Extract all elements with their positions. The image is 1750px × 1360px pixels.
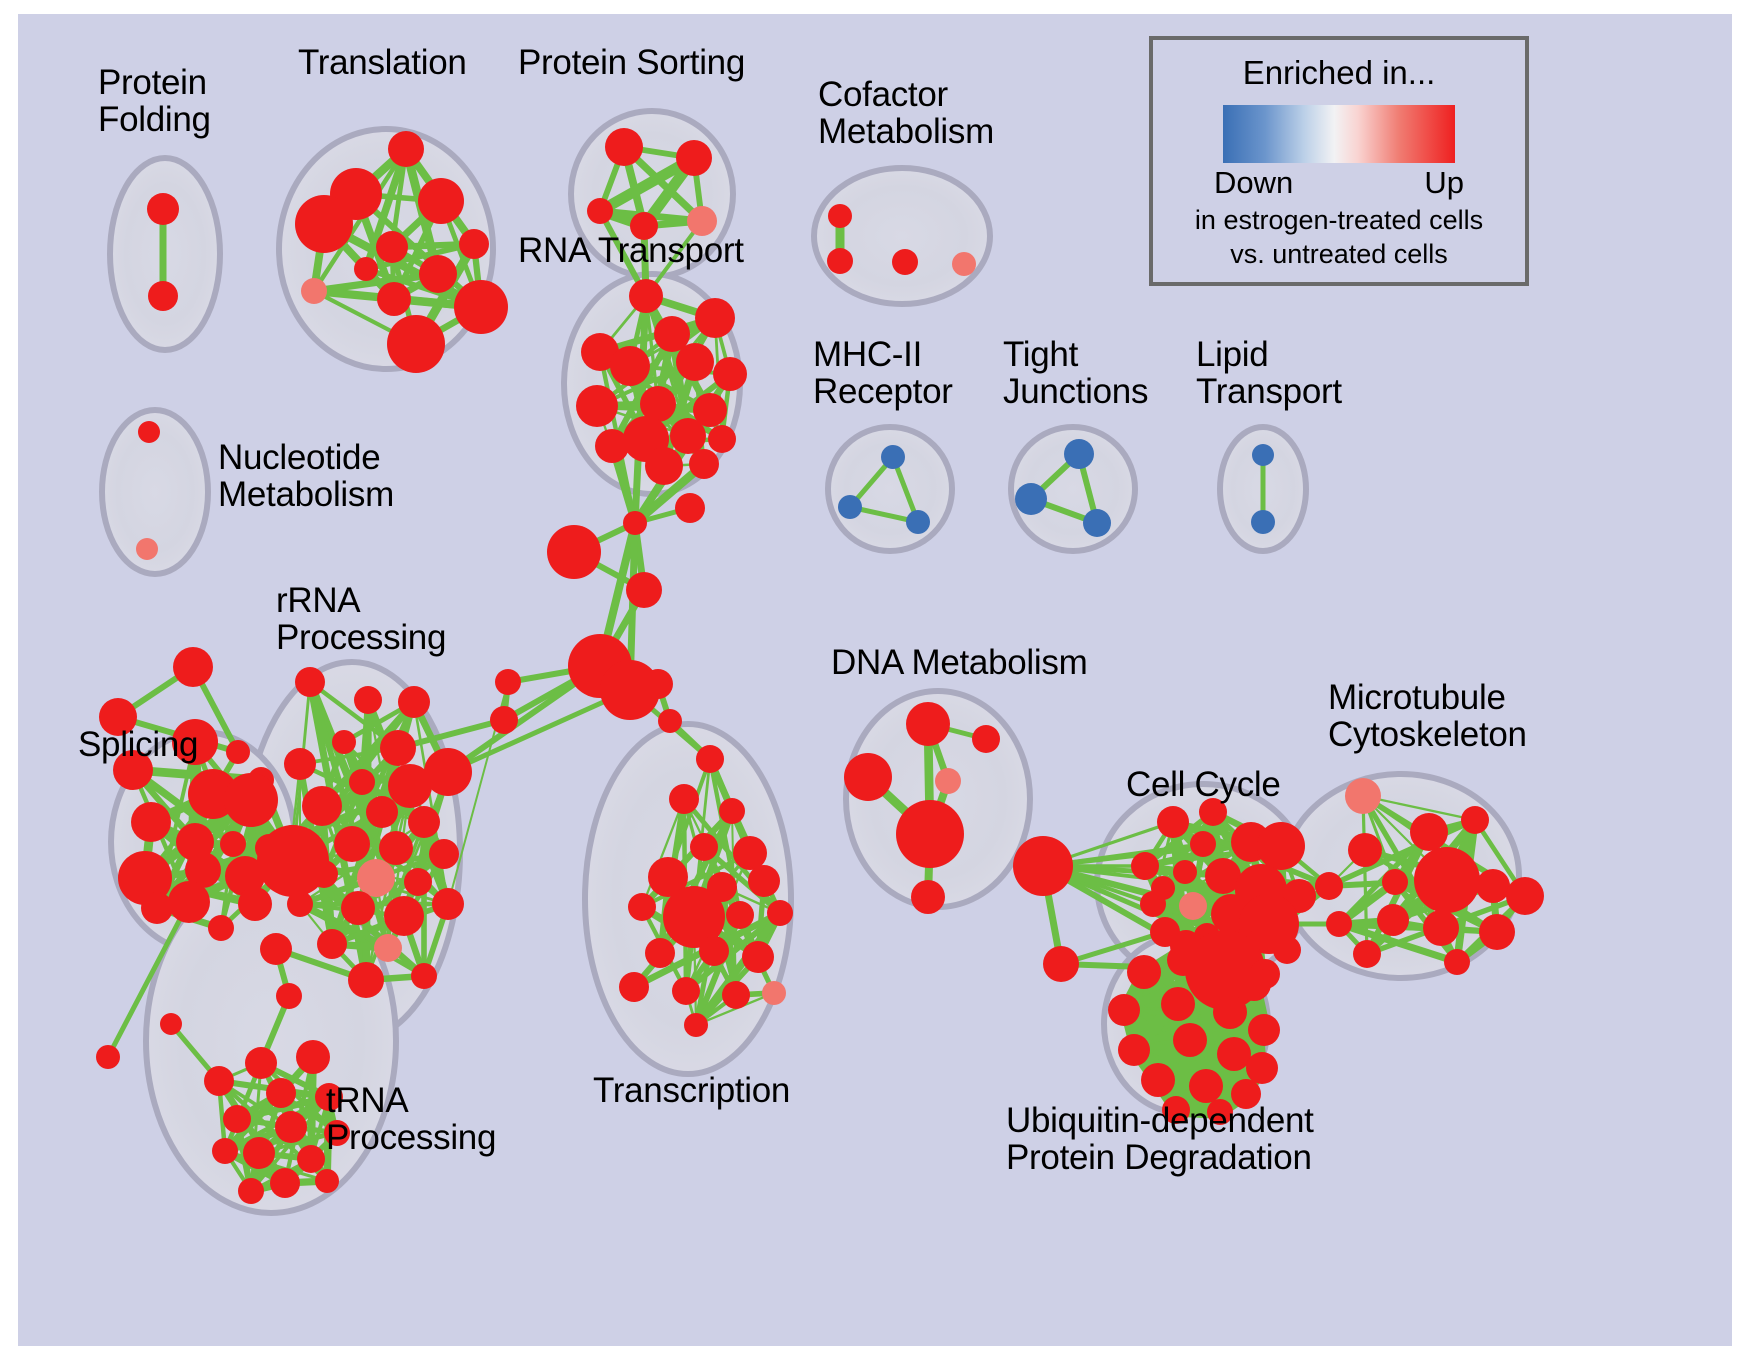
network-node[interactable] [595, 429, 629, 463]
network-node[interactable] [935, 768, 961, 794]
network-node[interactable] [257, 825, 329, 897]
network-node[interactable] [1064, 439, 1094, 469]
network-node[interactable] [136, 538, 158, 560]
network-node[interactable] [1118, 1034, 1150, 1066]
network-node[interactable] [827, 248, 853, 274]
cluster-label-ubiquitin-degradation: Ubiquitin-dependent Protein Degradation [1006, 1102, 1314, 1177]
cluster-label-microtubule-cytoskeleton: Microtubule Cytoskeleton [1328, 679, 1527, 754]
network-node[interactable] [377, 282, 411, 316]
network-node[interactable] [1151, 876, 1175, 900]
network-node[interactable] [404, 868, 432, 896]
network-node[interactable] [645, 938, 675, 968]
network-node[interactable] [379, 831, 413, 865]
network-node[interactable] [354, 257, 378, 281]
network-node[interactable] [220, 831, 246, 857]
network-node[interactable] [1414, 847, 1480, 913]
network-node[interactable] [1326, 911, 1352, 937]
network-node[interactable] [675, 493, 705, 523]
network-node[interactable] [1252, 444, 1274, 466]
network-node[interactable] [722, 981, 750, 1009]
network-node[interactable] [204, 1066, 234, 1096]
network-node[interactable] [605, 128, 643, 166]
network-node[interactable] [643, 669, 673, 699]
network-node[interactable] [349, 769, 375, 795]
network-node[interactable] [354, 686, 382, 714]
network-canvas: Protein FoldingTranslationProtein Sortin… [18, 14, 1732, 1346]
network-node[interactable] [676, 140, 712, 176]
network-node[interactable] [695, 298, 735, 338]
network-node[interactable] [911, 880, 945, 914]
network-node[interactable] [1476, 869, 1510, 903]
network-node[interactable] [297, 1145, 325, 1173]
network-node[interactable] [1141, 1063, 1175, 1097]
network-node[interactable] [726, 901, 754, 929]
cluster-label-rrna-processing: rRNA Processing [276, 582, 446, 657]
cluster-label-lipid-transport: Lipid Transport [1196, 336, 1342, 411]
legend-high-label: Up [1424, 165, 1464, 201]
network-node[interactable] [408, 806, 440, 838]
network-node[interactable] [1410, 813, 1448, 851]
network-node[interactable] [260, 933, 292, 965]
legend-subtitle-line2: vs. untreated cells [1153, 239, 1525, 269]
network-node[interactable] [1348, 833, 1382, 867]
network-node[interactable] [1013, 836, 1073, 896]
network-node[interactable] [454, 280, 508, 334]
network-node[interactable] [1353, 940, 1381, 968]
network-node[interactable] [380, 730, 416, 766]
legend-box: Enriched in... Down Up in estrogen-treat… [1149, 36, 1529, 286]
network-node[interactable] [366, 796, 398, 828]
network-node[interactable] [243, 1137, 275, 1169]
network-node[interactable] [376, 231, 408, 263]
network-node[interactable] [301, 278, 327, 304]
network-node[interactable] [387, 315, 445, 373]
network-node[interactable] [275, 1111, 307, 1143]
network-node[interactable] [767, 900, 793, 926]
legend-title: Enriched in... [1153, 54, 1525, 92]
network-node[interactable] [276, 983, 302, 1009]
network-node[interactable] [742, 941, 774, 973]
legend-color-bar [1223, 105, 1455, 163]
network-node[interactable] [1173, 860, 1197, 884]
network-node[interactable] [317, 929, 347, 959]
network-node[interactable] [733, 836, 767, 870]
network-node[interactable] [284, 748, 316, 780]
network-node[interactable] [952, 252, 976, 276]
network-node[interactable] [270, 1168, 300, 1198]
network-node[interactable] [141, 892, 173, 924]
network-node[interactable] [1189, 1069, 1223, 1103]
network-node[interactable] [1246, 1052, 1278, 1084]
network-node[interactable] [1186, 962, 1214, 990]
network-node[interactable] [245, 1047, 277, 1079]
network-node[interactable] [295, 667, 325, 697]
network-node[interactable] [168, 881, 210, 923]
enrichment-network-figure: Protein FoldingTranslationProtein Sortin… [0, 0, 1750, 1360]
network-node[interactable] [424, 748, 472, 796]
network-node[interactable] [1444, 949, 1470, 975]
cluster-label-tight-junctions: Tight Junctions [1003, 336, 1148, 411]
network-node[interactable] [1345, 778, 1381, 814]
network-node[interactable] [689, 449, 719, 479]
network-node[interactable] [173, 647, 213, 687]
network-node[interactable] [1083, 509, 1111, 537]
cluster-label-trna-processing: tRNA Processing [326, 1082, 496, 1157]
network-node[interactable] [881, 445, 905, 469]
network-node[interactable] [748, 865, 780, 897]
network-node[interactable] [892, 249, 918, 275]
network-node[interactable] [1170, 930, 1202, 962]
network-node[interactable] [669, 784, 699, 814]
cluster-label-protein-sorting: Protein Sorting [518, 44, 745, 81]
network-node[interactable] [1131, 852, 1159, 880]
network-node[interactable] [844, 753, 892, 801]
network-node[interactable] [296, 1040, 330, 1074]
network-node[interactable] [459, 229, 489, 259]
network-node[interactable] [587, 198, 613, 224]
network-node[interactable] [676, 343, 714, 381]
network-node[interactable] [896, 800, 964, 868]
network-node[interactable] [838, 495, 862, 519]
cluster-label-splicing: Splicing [78, 726, 198, 763]
network-node[interactable] [131, 802, 171, 842]
network-node[interactable] [1377, 904, 1409, 936]
network-node[interactable] [1315, 872, 1343, 900]
network-node[interactable] [315, 1169, 339, 1193]
network-node[interactable] [332, 730, 356, 754]
cluster-label-cofactor-metabolism: Cofactor Metabolism [818, 76, 994, 151]
network-node[interactable] [610, 346, 650, 386]
network-node[interactable] [1217, 1037, 1251, 1071]
network-node[interactable] [238, 1178, 264, 1204]
network-node[interactable] [670, 418, 706, 454]
network-node[interactable] [1213, 995, 1247, 1029]
network-node[interactable] [628, 893, 656, 921]
network-node[interactable] [1179, 892, 1207, 920]
network-node[interactable] [1173, 1023, 1207, 1057]
network-node[interactable] [490, 706, 518, 734]
network-node[interactable] [1479, 914, 1515, 950]
network-node[interactable] [388, 131, 424, 167]
network-node[interactable] [684, 1013, 708, 1037]
network-node[interactable] [429, 839, 459, 869]
network-node[interactable] [906, 510, 930, 534]
network-node[interactable] [418, 178, 464, 224]
network-node[interactable] [212, 1138, 238, 1164]
cluster-label-rna-transport: RNA Transport [518, 232, 744, 269]
network-node[interactable] [1257, 822, 1305, 870]
network-node[interactable] [658, 709, 682, 733]
network-node[interactable] [419, 255, 457, 293]
network-node[interactable] [645, 447, 683, 485]
network-node[interactable] [1161, 987, 1195, 1021]
network-node[interactable] [719, 798, 745, 824]
network-node[interactable] [576, 385, 618, 427]
network-node[interactable] [623, 511, 647, 535]
network-node[interactable] [1506, 877, 1544, 915]
network-node[interactable] [626, 572, 662, 608]
network-node[interactable] [1273, 936, 1301, 964]
cluster-label-transcription: Transcription [593, 1072, 790, 1109]
network-node[interactable] [762, 981, 786, 1005]
network-node[interactable] [148, 281, 178, 311]
network-node[interactable] [1382, 869, 1408, 895]
network-node[interactable] [690, 833, 718, 861]
network-node[interactable] [619, 972, 649, 1002]
network-node[interactable] [138, 421, 160, 443]
network-node[interactable] [357, 859, 395, 897]
network-node[interactable] [713, 357, 747, 391]
network-node[interactable] [266, 1078, 296, 1108]
network-node[interactable] [1127, 955, 1161, 989]
network-node[interactable] [374, 934, 402, 962]
network-node[interactable] [906, 702, 950, 746]
network-node[interactable] [411, 963, 437, 989]
cluster-label-mhc-ii-receptor: MHC-II Receptor [813, 336, 953, 411]
network-node[interactable] [208, 915, 234, 941]
network-node[interactable] [495, 669, 521, 695]
network-node[interactable] [348, 962, 384, 998]
network-node[interactable] [972, 725, 1000, 753]
network-nodes [96, 128, 1544, 1204]
network-node[interactable] [708, 425, 736, 453]
network-node[interactable] [334, 826, 370, 862]
network-node[interactable] [1251, 510, 1275, 534]
network-node[interactable] [147, 193, 179, 225]
cluster-label-dna-metabolism: DNA Metabolism [831, 644, 1087, 681]
network-node[interactable] [96, 1045, 120, 1069]
network-node[interactable] [226, 740, 250, 764]
network-node[interactable] [696, 745, 724, 773]
network-node[interactable] [828, 204, 852, 228]
network-node[interactable] [384, 896, 424, 936]
network-node[interactable] [223, 1105, 251, 1133]
network-node[interactable] [1248, 1014, 1280, 1046]
cluster-label-protein-folding: Protein Folding [98, 64, 211, 139]
network-node[interactable] [1423, 910, 1459, 946]
network-node[interactable] [398, 686, 430, 718]
network-node[interactable] [432, 888, 464, 920]
cluster-label-nucleotide-metabolism: Nucleotide Metabolism [218, 439, 394, 514]
network-node[interactable] [547, 525, 601, 579]
legend-low-label: Down [1214, 165, 1293, 201]
network-node[interactable] [1461, 806, 1489, 834]
network-node[interactable] [1237, 967, 1271, 1001]
network-node[interactable] [672, 977, 700, 1005]
network-node[interactable] [1157, 806, 1189, 838]
network-node[interactable] [1015, 483, 1047, 515]
network-node[interactable] [238, 887, 272, 921]
network-node[interactable] [224, 773, 278, 827]
cluster-label-translation: Translation [298, 44, 467, 81]
network-node[interactable] [1043, 946, 1079, 982]
network-node[interactable] [1108, 994, 1140, 1026]
network-node[interactable] [160, 1013, 182, 1035]
network-node[interactable] [699, 936, 729, 966]
network-node[interactable] [629, 279, 663, 313]
network-node[interactable] [1190, 831, 1216, 857]
network-node[interactable] [295, 195, 353, 253]
network-node[interactable] [341, 891, 375, 925]
cluster-label-cell-cycle: Cell Cycle [1126, 766, 1281, 803]
legend-subtitle-line1: in estrogen-treated cells [1153, 205, 1525, 235]
network-node[interactable] [302, 786, 342, 826]
